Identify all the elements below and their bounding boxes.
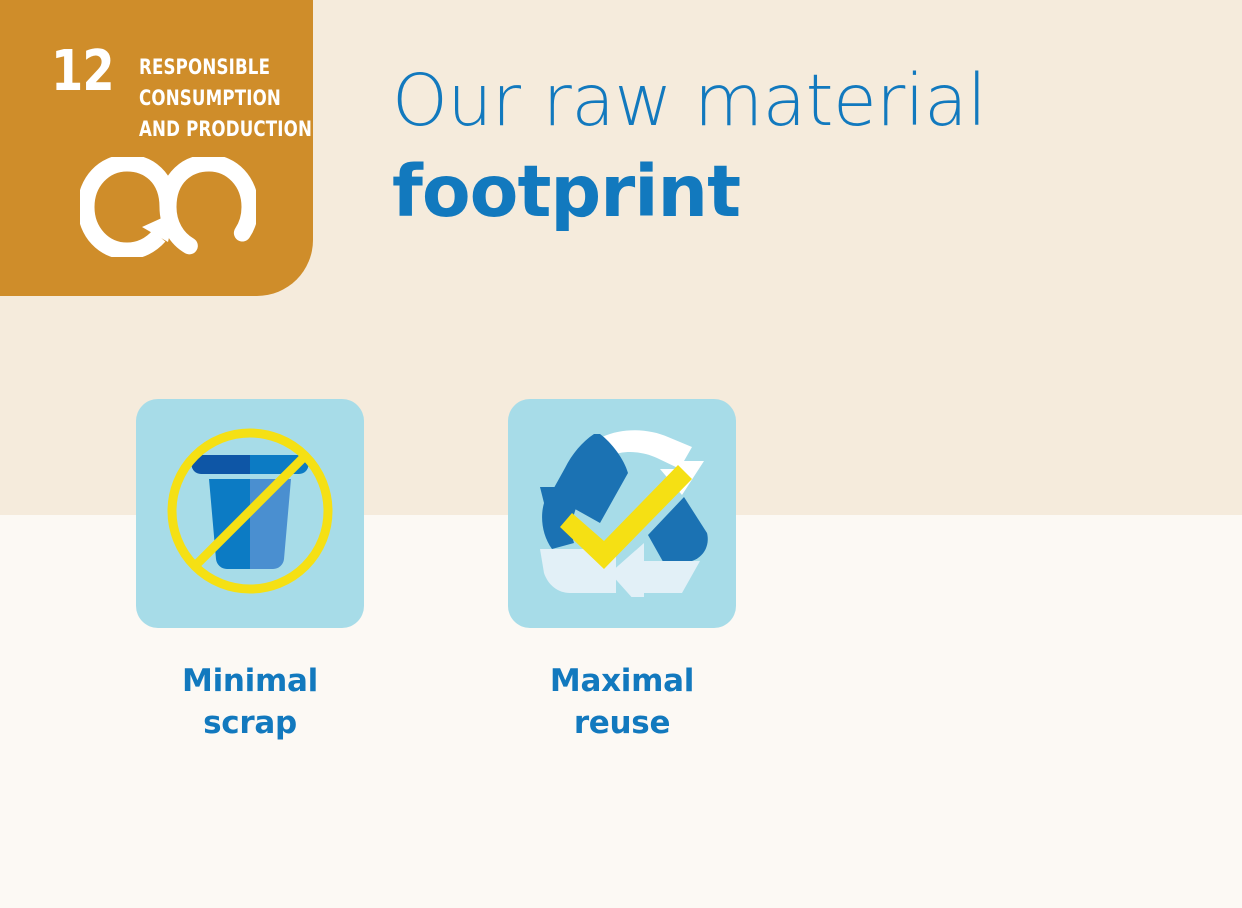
- slide-canvas: 12 RESPONSIBLE CONSUMPTION AND PRODUCTIO…: [0, 0, 1242, 908]
- feature-card-minimal-scrap[interactable]: Minimal scrap: [136, 399, 364, 744]
- sdg-title-line-3: AND PRODUCTION: [139, 114, 312, 145]
- feature-card-label: Maximal reuse: [550, 660, 694, 744]
- feature-card-tile: [508, 399, 736, 628]
- feature-card-label: Minimal scrap: [182, 660, 318, 744]
- sdg-title-line-1: RESPONSIBLE: [139, 52, 312, 83]
- sdg-title-line-2: CONSUMPTION: [139, 83, 312, 114]
- feature-card-maximal-reuse[interactable]: Maximal reuse: [508, 399, 736, 744]
- sdg-badge-header: 12 RESPONSIBLE CONSUMPTION AND PRODUCTIO…: [51, 49, 313, 145]
- sdg-goal-number: 12: [51, 47, 114, 97]
- feature-card-list: Minimal scrap: [136, 399, 736, 744]
- recycle-check-icon: [532, 425, 712, 602]
- page-title-line-1: Our raw material: [392, 56, 1092, 146]
- page-title: Our raw material footprint: [392, 56, 1092, 238]
- no-trash-bin-icon: [157, 418, 343, 609]
- feature-card-tile: [136, 399, 364, 628]
- page-title-line-2: footprint: [392, 146, 1092, 238]
- sdg-goal-12-badge: 12 RESPONSIBLE CONSUMPTION AND PRODUCTIO…: [0, 0, 313, 296]
- sdg-goal-title: RESPONSIBLE CONSUMPTION AND PRODUCTION: [139, 52, 312, 145]
- infinity-loop-arrow-icon: [80, 157, 256, 262]
